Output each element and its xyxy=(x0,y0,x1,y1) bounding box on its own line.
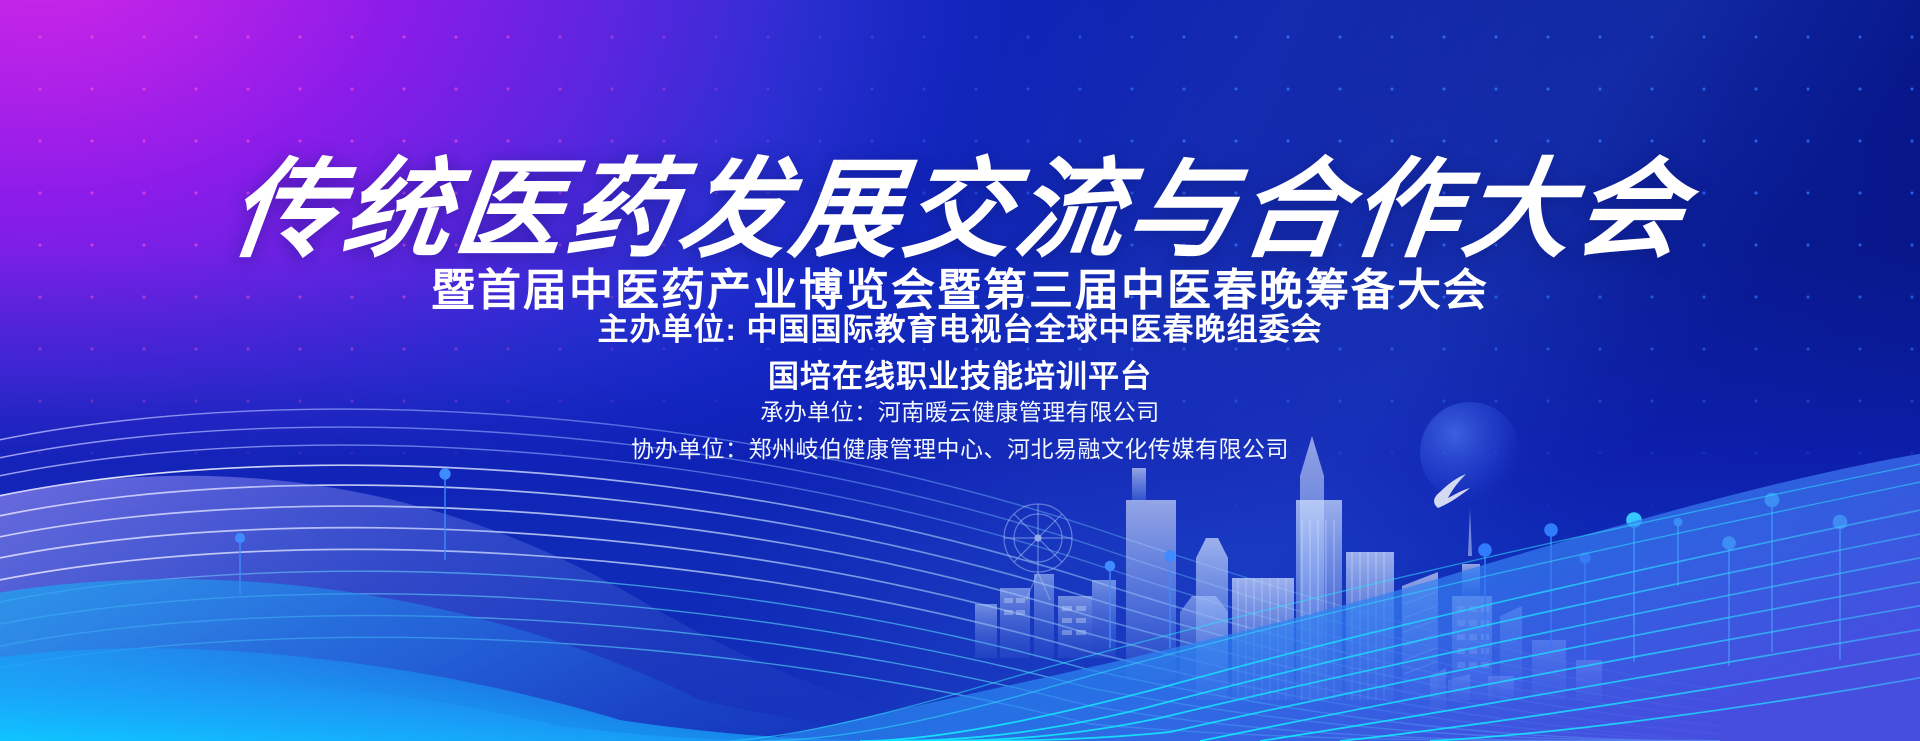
undertaker-organizer-line: 承办单位：河南暖云健康管理有限公司 xyxy=(0,394,1920,431)
banner-content: 传统医药发展交流与合作大会 暨首届中医药产业博览会暨第三届中医春晚筹备大会 主办… xyxy=(0,0,1920,741)
organizer-primary-block: 主办单位: 中国国际教育电视台全球中医春晚组委会 国培在线职业技能培训平台 xyxy=(0,306,1920,400)
co-organizer-line: 协办单位：郑州岐伯健康管理中心、河北易融文化传媒有限公司 xyxy=(0,431,1920,468)
page-title: 传统医药发展交流与合作大会 xyxy=(0,156,1920,264)
event-banner: 传统医药发展交流与合作大会 暨首届中医药产业博览会暨第三届中医春晚筹备大会 主办… xyxy=(0,0,1920,741)
host-organizer-line-1: 主办单位: 中国国际教育电视台全球中医春晚组委会 xyxy=(0,306,1920,353)
organizer-secondary-block: 承办单位：河南暖云健康管理有限公司 协办单位：郑州岐伯健康管理中心、河北易融文化… xyxy=(0,394,1920,469)
